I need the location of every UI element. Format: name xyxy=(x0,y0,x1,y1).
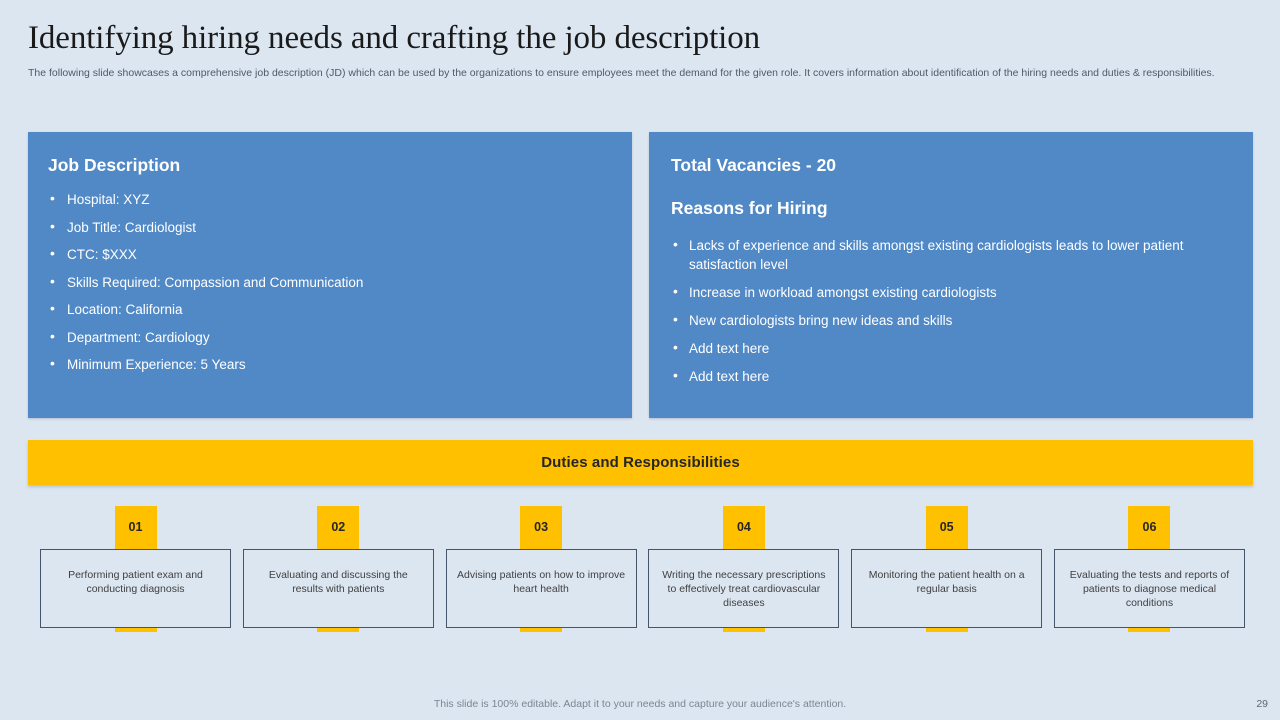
reasons-for-hiring-list: Lacks of experience and skills amongst e… xyxy=(671,236,1227,386)
list-item: Minimum Experience: 5 Years xyxy=(48,355,606,374)
duty-text: Evaluating and discussing the results wi… xyxy=(253,568,424,596)
list-item: Add text here xyxy=(671,339,1227,358)
duty-box: Evaluating the tests and reports of pati… xyxy=(1054,549,1245,628)
duty-number: 06 xyxy=(1143,520,1157,534)
duty-box: Writing the necessary prescriptions to e… xyxy=(648,549,839,628)
list-item: Department: Cardiology xyxy=(48,328,606,347)
job-description-title: Job Description xyxy=(48,154,606,176)
duty-text: Advising patients on how to improve hear… xyxy=(456,568,627,596)
vacancies-panel: Total Vacancies - 20 Reasons for Hiring … xyxy=(649,132,1253,418)
duty-box: Evaluating and discussing the results wi… xyxy=(243,549,434,628)
slide-subtitle: The following slide showcases a comprehe… xyxy=(28,66,1233,81)
duty-box: Monitoring the patient health on a regul… xyxy=(851,549,1042,628)
list-item: Job Title: Cardiologist xyxy=(48,218,606,237)
duties-banner: Duties and Responsibilities xyxy=(28,440,1253,485)
list-item: Location: California xyxy=(48,300,606,319)
list-item: New cardiologists bring new ideas and sk… xyxy=(671,311,1227,330)
duty-text: Monitoring the patient health on a regul… xyxy=(861,568,1032,596)
job-description-panel: Job Description Hospital: XYZ Job Title:… xyxy=(28,132,632,418)
duty-text: Evaluating the tests and reports of pati… xyxy=(1064,568,1235,610)
duty-box: Advising patients on how to improve hear… xyxy=(446,549,637,628)
duty-card-03[interactable]: 03 Advising patients on how to improve h… xyxy=(446,506,637,638)
duties-banner-label: Duties and Responsibilities xyxy=(541,454,740,471)
info-panels: Job Description Hospital: XYZ Job Title:… xyxy=(28,132,1253,418)
duty-box: Performing patient exam and conducting d… xyxy=(40,549,231,628)
duty-number: 01 xyxy=(129,520,143,534)
page-title: Identifying hiring needs and crafting th… xyxy=(28,18,1238,58)
slide-header: Identifying hiring needs and crafting th… xyxy=(28,18,1238,81)
list-item: Add text here xyxy=(671,367,1227,386)
duty-card-02[interactable]: 02 Evaluating and discussing the results… xyxy=(243,506,434,638)
total-vacancies-title: Total Vacancies - 20 xyxy=(671,154,1227,176)
list-item: Skills Required: Compassion and Communic… xyxy=(48,273,606,292)
duty-text: Writing the necessary prescriptions to e… xyxy=(658,568,829,610)
duty-number: 02 xyxy=(331,520,345,534)
list-item: Lacks of experience and skills amongst e… xyxy=(671,236,1227,274)
list-item: Hospital: XYZ xyxy=(48,190,606,209)
job-description-list: Hospital: XYZ Job Title: Cardiologist CT… xyxy=(48,190,606,374)
duty-number: 04 xyxy=(737,520,751,534)
duty-card-04[interactable]: 04 Writing the necessary prescriptions t… xyxy=(648,506,839,638)
footer-note: This slide is 100% editable. Adapt it to… xyxy=(0,698,1280,710)
duty-number: 05 xyxy=(940,520,954,534)
slide-canvas: Identifying hiring needs and crafting th… xyxy=(0,0,1280,720)
duty-card-05[interactable]: 05 Monitoring the patient health on a re… xyxy=(851,506,1042,638)
duty-text: Performing patient exam and conducting d… xyxy=(50,568,221,596)
duty-card-01[interactable]: 01 Performing patient exam and conductin… xyxy=(40,506,231,638)
reasons-for-hiring-title: Reasons for Hiring xyxy=(671,197,1227,219)
list-item: Increase in workload amongst existing ca… xyxy=(671,283,1227,302)
duty-number: 03 xyxy=(534,520,548,534)
duties-card-row: 01 Performing patient exam and conductin… xyxy=(40,506,1245,638)
page-number: 29 xyxy=(1256,698,1268,710)
duty-card-06[interactable]: 06 Evaluating the tests and reports of p… xyxy=(1054,506,1245,638)
list-item: CTC: $XXX xyxy=(48,245,606,264)
